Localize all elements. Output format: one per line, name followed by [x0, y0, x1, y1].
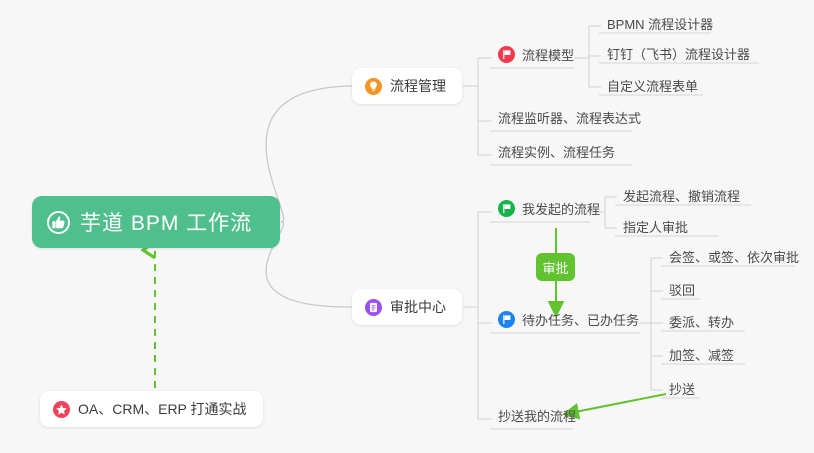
topic-label: 抄送我的流程 [498, 406, 576, 425]
topic-label: 流程实例、流程任务 [498, 142, 615, 161]
subtopic-label: 抄送 [669, 379, 695, 398]
flag-icon [498, 200, 515, 217]
floating-node-oa-crm-erp[interactable]: OA、CRM、ERP 打通实战 [40, 391, 263, 427]
topic-node-liucheng-moxing[interactable]: 流程模型 [492, 40, 580, 68]
subtopic-zhiding-ren[interactable]: 指定人审批 [617, 212, 694, 240]
branch-node-shenpi-zhongxin[interactable]: 审批中心 [352, 289, 462, 325]
subtopic-chaosong[interactable]: 抄送 [663, 374, 701, 402]
subtopic-label: BPMN 流程设计器 [607, 14, 713, 33]
topic-label: 流程监听器、流程表达式 [498, 108, 641, 127]
subtopic-label: 加签、减签 [669, 345, 734, 364]
topic-label: 我发起的流程 [522, 199, 600, 218]
subtopic-weipai[interactable]: 委派、转办 [663, 307, 740, 335]
star-icon [53, 401, 70, 418]
root-label: 芋道 BPM 工作流 [80, 207, 252, 237]
topic-node-wo-faqi[interactable]: 我发起的流程 [492, 194, 606, 222]
topic-node-liucheng-jianting[interactable]: 流程监听器、流程表达式 [492, 103, 647, 131]
subtopic-bohui[interactable]: 驳回 [663, 275, 701, 303]
subtopic-label: 自定义流程表单 [607, 76, 698, 95]
root-node[interactable]: 芋道 BPM 工作流 [32, 196, 280, 248]
topic-node-daiban-renwu[interactable]: 待办任务、已办任务 [492, 305, 645, 333]
subtopic-label: 会签、或签、依次审批 [669, 247, 799, 266]
subtopic-bpmn-designer[interactable]: BPMN 流程设计器 [601, 9, 719, 37]
branch-label: 审批中心 [390, 297, 446, 317]
topic-label: 待办任务、已办任务 [522, 310, 639, 329]
flag-icon [498, 311, 515, 328]
lightbulb-icon [365, 78, 382, 95]
subtopic-label: 委派、转办 [669, 312, 734, 331]
subtopic-dingtalk-designer[interactable]: 钉钉（飞书）流程设计器 [601, 39, 756, 67]
branch-label: 流程管理 [390, 76, 446, 96]
floating-node-label: OA、CRM、ERP 打通实战 [78, 399, 247, 419]
topic-label: 流程模型 [522, 45, 574, 64]
topic-node-chaosong-wode[interactable]: 抄送我的流程 [492, 401, 582, 429]
subtopic-faqi-chexiao[interactable]: 发起流程、撤销流程 [617, 181, 746, 209]
topic-node-liucheng-shili[interactable]: 流程实例、流程任务 [492, 137, 621, 165]
thumbs-up-icon [46, 210, 71, 235]
subtopic-custom-form[interactable]: 自定义流程表单 [601, 71, 704, 99]
flag-icon [498, 46, 515, 63]
subtopic-label: 驳回 [669, 280, 695, 299]
subtopic-huiqian[interactable]: 会签、或签、依次审批 [663, 242, 805, 270]
sticky-label-text: 审批 [542, 258, 568, 277]
subtopic-label: 发起流程、撤销流程 [623, 186, 740, 205]
branch-node-liucheng-guanli[interactable]: 流程管理 [352, 68, 462, 104]
subtopic-jiaqian[interactable]: 加签、减签 [663, 340, 740, 368]
subtopic-label: 钉钉（飞书）流程设计器 [607, 44, 750, 63]
clipboard-icon [365, 299, 382, 316]
subtopic-label: 指定人审批 [623, 217, 688, 236]
mindmap-canvas[interactable]: 芋道 BPM 工作流 流程管理 流程模型 BPMN 流程设计器 钉钉（飞书）流程… [0, 0, 814, 453]
sticky-label-shenpi[interactable]: 审批 [536, 253, 575, 281]
